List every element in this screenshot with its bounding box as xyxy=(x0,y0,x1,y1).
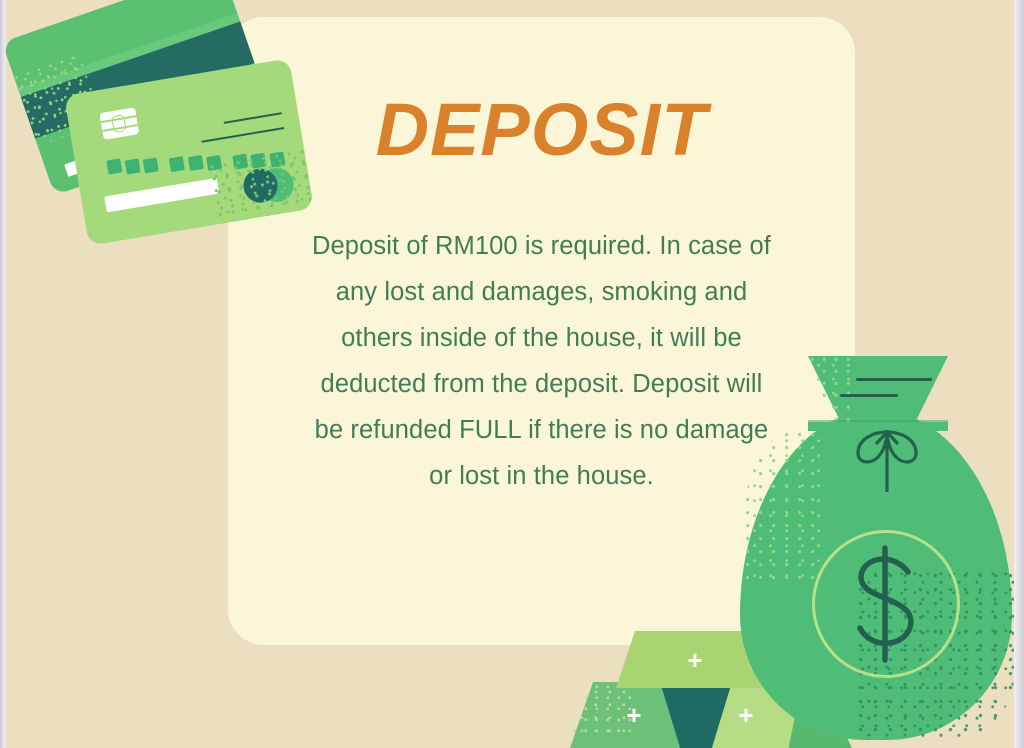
gold-bar-texture-grain xyxy=(572,684,634,734)
money-bag-neck-grain xyxy=(808,356,856,424)
money-bag-illustration xyxy=(700,340,1024,748)
credit-cards-illustration xyxy=(0,0,330,264)
money-bag-fold-line xyxy=(840,394,898,397)
card-embossed-line xyxy=(223,112,282,124)
card-texture-grain xyxy=(210,148,314,224)
card-embossed-line xyxy=(201,127,285,143)
slide-canvas: DEPOSIT Deposit of RM100 is required. In… xyxy=(0,0,1024,748)
description-line: any lost and damages, smoking and xyxy=(286,269,797,315)
card-signature-strip xyxy=(104,178,219,213)
card-number-block xyxy=(125,158,141,174)
money-bag-fold-line xyxy=(856,378,932,381)
dollar-sign-icon xyxy=(812,528,960,680)
card-number-block xyxy=(143,157,159,173)
card-number-block xyxy=(106,159,122,175)
card-chip-icon xyxy=(99,107,139,140)
card-number-block xyxy=(169,156,185,172)
card-number-block xyxy=(188,155,204,171)
bow-knot-icon xyxy=(832,426,942,496)
description-line: Deposit of RM100 is required. In case of xyxy=(286,223,797,269)
